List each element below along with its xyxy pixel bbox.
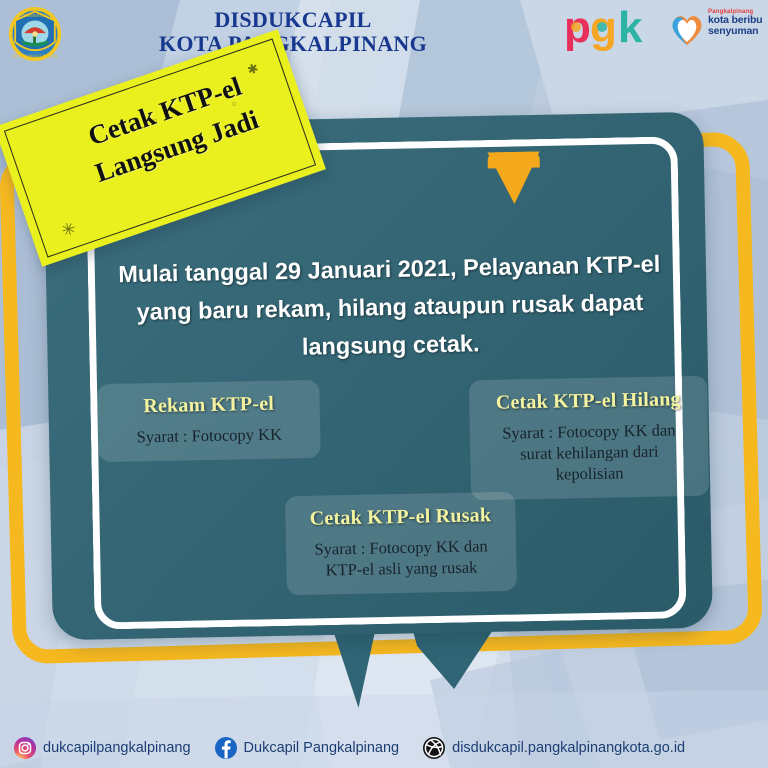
footer-facebook-label: Dukcapil Pangkalpinang xyxy=(244,740,400,756)
poster-canvas: PEMERINTAH KOTA PANGKALPINANG DISDUKCAPI… xyxy=(0,0,768,768)
footer-instagram-label: dukcapilpangkalpinang xyxy=(43,740,191,756)
info-box-hilang: Cetak KTP-el Hilang Syarat : Fotocopy KK… xyxy=(469,376,709,501)
info-box-rekam-body: Syarat : Fotocopy KK xyxy=(108,423,310,448)
footer-facebook[interactable]: Dukcapil Pangkalpinang xyxy=(215,737,400,759)
info-box-hilang-title: Cetak KTP-el Hilang xyxy=(479,388,697,415)
info-box-rusak: Cetak KTP-el Rusak Syarat : Fotocopy KK … xyxy=(285,492,517,596)
info-box-rusak-line2: KTP-el asli yang rusak xyxy=(296,556,506,581)
info-box-rusak-body: Syarat : Fotocopy KK dan KTP-el asli yan… xyxy=(296,535,507,581)
info-box-rusak-title: Cetak KTP-el Rusak xyxy=(295,504,505,531)
footer-instagram[interactable]: dukcapilpangkalpinang xyxy=(14,737,191,759)
info-box-rekam-title: Rekam KTP-el xyxy=(107,392,309,419)
main-statement: Mulai tanggal 29 Januari 2021, Pelayanan… xyxy=(103,245,677,370)
globe-icon[interactable] xyxy=(423,737,445,759)
info-box-hilang-body: Syarat : Fotocopy KK dan surat kehilanga… xyxy=(480,419,699,487)
info-box-rekam: Rekam KTP-el Syarat : Fotocopy KK xyxy=(97,380,320,462)
bookmark-pin-icon xyxy=(488,152,541,205)
facebook-icon[interactable] xyxy=(215,737,237,759)
info-box-hilang-line3: kepolisian xyxy=(481,461,699,486)
footer-website[interactable]: disdukcapil.pangkalpinangkota.go.id xyxy=(423,737,685,759)
info-box-hilang-line1: Syarat : Fotocopy KK dan xyxy=(480,419,698,444)
footer-social-bar: dukcapilpangkalpinang Dukcapil Pangkalpi… xyxy=(0,728,768,768)
info-box-rekam-line1: Syarat : Fotocopy KK xyxy=(108,423,310,448)
footer-website-label: disdukcapil.pangkalpinangkota.go.id xyxy=(452,740,685,756)
instagram-icon[interactable] xyxy=(14,737,36,759)
